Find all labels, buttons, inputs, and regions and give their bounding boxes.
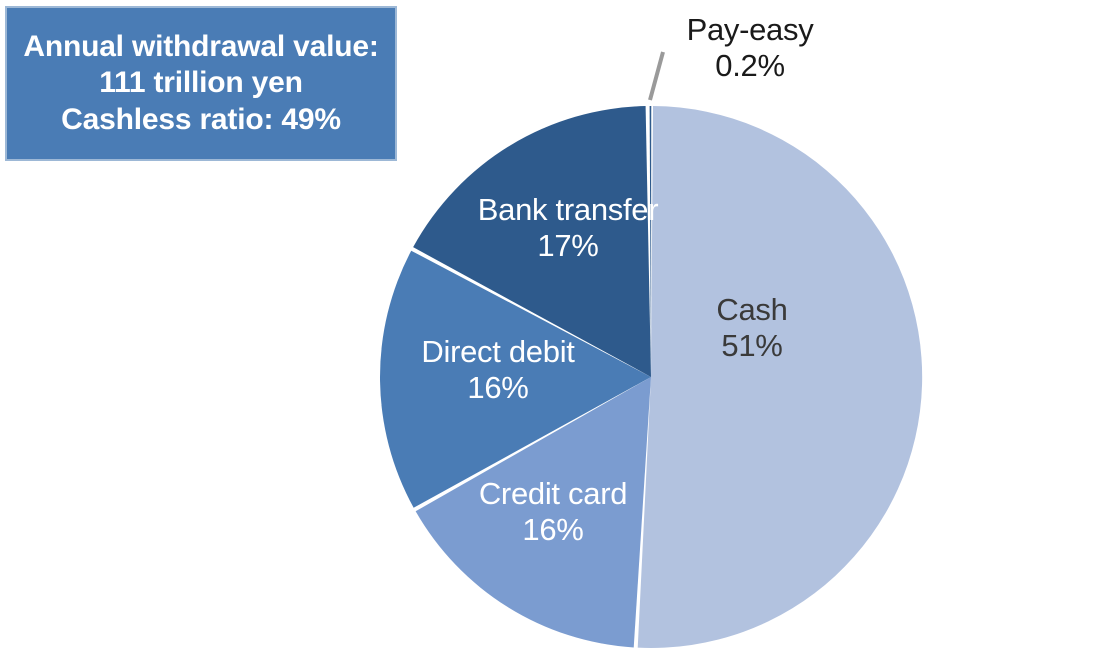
- slice-label-credit-card-value: 16%: [438, 512, 668, 548]
- slice-label-pay-easy-name: Pay-easy: [640, 12, 860, 48]
- pie-slice-cash: [638, 106, 922, 648]
- slice-label-direct-debit: Direct debit 16%: [378, 334, 618, 407]
- slice-label-cash-name: Cash: [652, 292, 852, 328]
- slice-label-cash: Cash 51%: [652, 292, 852, 365]
- slice-label-cash-value: 51%: [652, 328, 852, 364]
- slice-label-credit-card-name: Credit card: [438, 476, 668, 512]
- slice-label-pay-easy: Pay-easy 0.2%: [640, 12, 860, 85]
- slice-label-bank-transfer-value: 17%: [446, 228, 690, 264]
- slice-label-bank-transfer-name: Bank transfer: [446, 192, 690, 228]
- slice-label-credit-card: Credit card 16%: [438, 476, 668, 549]
- pie-chart-figure: Annual withdrawal value: 111 trillion ye…: [0, 0, 1120, 668]
- slice-label-bank-transfer: Bank transfer 17%: [446, 192, 690, 265]
- slice-label-pay-easy-value: 0.2%: [640, 48, 860, 84]
- slice-label-direct-debit-value: 16%: [378, 370, 618, 406]
- slice-label-direct-debit-name: Direct debit: [378, 334, 618, 370]
